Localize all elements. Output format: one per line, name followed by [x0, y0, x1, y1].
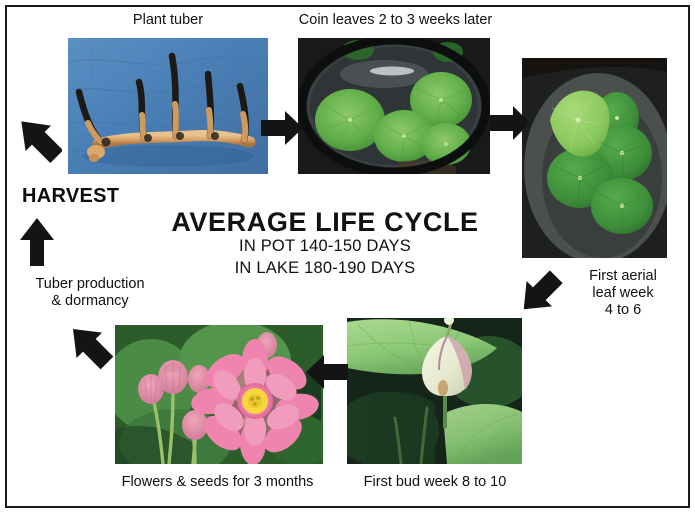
caption-tuber-production: Tuber production & dormancy — [20, 276, 160, 310]
first-bud-illustration — [347, 318, 522, 464]
arrow-up-left-icon — [66, 320, 114, 372]
harvest-label: HARVEST — [22, 185, 119, 208]
plant-tuber-illustration — [68, 38, 268, 174]
flowers-seeds-illustration — [115, 325, 323, 464]
caption-coin-leaves: Coin leaves 2 to 3 weeks later — [288, 12, 503, 29]
photo-first-aerial-leaf — [522, 58, 667, 258]
caption-flowers-seeds: Flowers & seeds for 3 months — [110, 474, 325, 491]
caption-first-bud: First bud week 8 to 10 — [350, 474, 520, 491]
arrow-harvest-to-tuber-icon — [16, 112, 62, 166]
arrow-up-right-icon — [16, 112, 62, 166]
center-title-block: AVERAGE LIFE CYCLE IN POT 140-150 DAYS I… — [160, 208, 490, 279]
arrow-aerial-to-bud-icon — [516, 268, 564, 318]
arrow-tuber-production-to-harvest-icon — [20, 218, 54, 266]
arrow-bud-to-flower-icon — [306, 352, 348, 392]
title-subline-pot: IN POT 140-150 DAYS — [160, 236, 490, 257]
caption-first-aerial-leaf: First aerial leaf week 4 to 6 — [568, 268, 678, 319]
first-aerial-leaf-illustration — [522, 58, 667, 258]
arrow-coin-to-aerial-icon — [490, 104, 530, 142]
photo-plant-tuber — [68, 38, 268, 174]
arrow-left-icon — [306, 352, 348, 392]
arrow-up-icon — [20, 218, 54, 266]
arrow-right-icon — [261, 108, 303, 148]
photo-coin-leaves — [298, 38, 490, 174]
photo-flowers-seeds — [115, 325, 323, 464]
caption-plant-tuber: Plant tuber — [88, 12, 248, 29]
arrow-tuber-to-coin-icon — [261, 108, 303, 148]
page-title: AVERAGE LIFE CYCLE — [160, 208, 490, 236]
lotus-life-cycle-diagram: Plant tuber — [0, 0, 695, 513]
arrow-flower-to-tuber-production-icon — [66, 320, 114, 372]
coin-leaves-illustration — [298, 38, 490, 174]
arrow-right-icon — [490, 104, 530, 142]
photo-first-bud — [347, 318, 522, 464]
title-subline-lake: IN LAKE 180-190 DAYS — [160, 258, 490, 279]
arrow-down-left-icon — [516, 268, 564, 318]
